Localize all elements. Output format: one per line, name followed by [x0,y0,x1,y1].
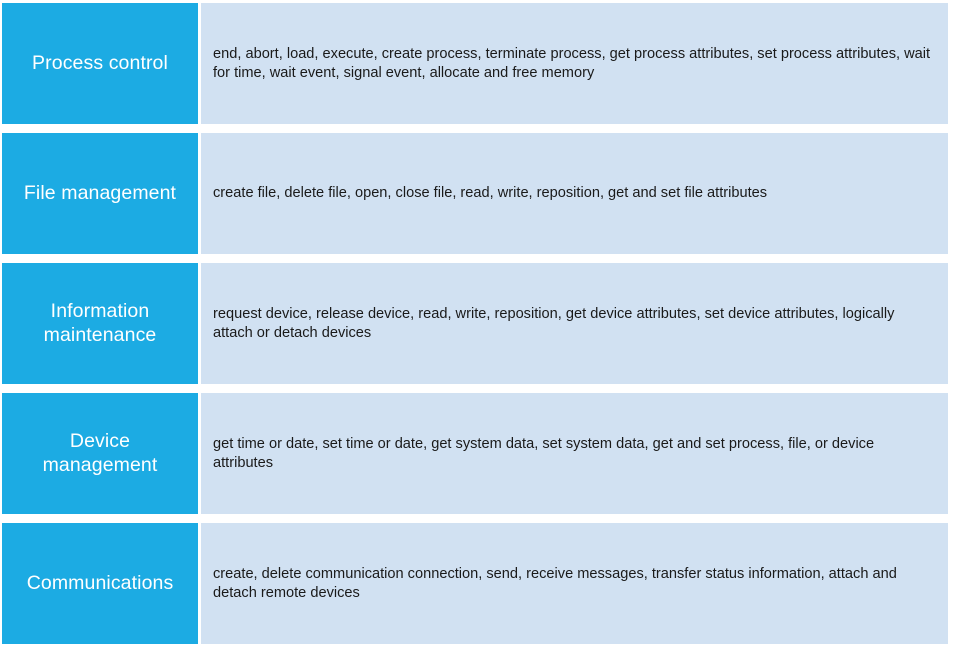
row-content-cell-process-control: end, abort, load, execute, create proces… [201,3,948,124]
row-label-cell-process-control: Process control [2,3,198,124]
row-label-text: Information maintenance [10,300,190,348]
row-label-cell-communications: Communications [2,523,198,644]
table-row: Information maintenance request device, … [0,263,963,384]
row-content-text: get time or date, set time or date, get … [213,435,934,473]
table-row: Device management get time or date, set … [0,393,963,514]
row-label-text: File management [24,182,176,206]
table-row: Process control end, abort, load, execut… [0,3,963,124]
row-label-text: Device management [10,430,190,478]
row-label-text: Process control [32,52,168,76]
system-calls-table: Process control end, abort, load, execut… [0,0,963,657]
row-label-cell-file-management: File management [2,133,198,254]
row-content-text: request device, release device, read, wr… [213,305,934,343]
row-label-text: Communications [27,572,174,596]
row-content-cell-communications: create, delete communication connection,… [201,523,948,644]
table-row: File management create file, delete file… [0,133,963,254]
row-content-text: create, delete communication connection,… [213,565,934,603]
row-label-cell-device-management: Device management [2,393,198,514]
row-content-cell-information-maintenance: request device, release device, read, wr… [201,263,948,384]
row-content-cell-file-management: create file, delete file, open, close fi… [201,133,948,254]
table-row: Communications create, delete communicat… [0,523,963,644]
row-content-text: create file, delete file, open, close fi… [213,184,767,203]
row-content-text: end, abort, load, execute, create proces… [213,45,934,83]
row-label-cell-information-maintenance: Information maintenance [2,263,198,384]
row-content-cell-device-management: get time or date, set time or date, get … [201,393,948,514]
